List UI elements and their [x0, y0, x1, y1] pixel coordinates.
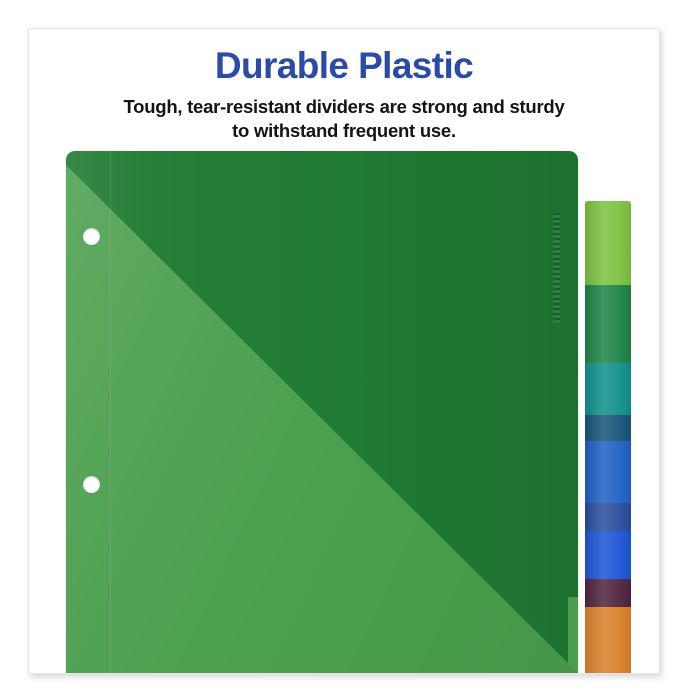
tab-purple [585, 579, 631, 607]
tab-orange [585, 607, 631, 673]
tab-blue [585, 441, 631, 503]
subtitle-line-2: to withstand frequent use. [54, 119, 634, 143]
product-photo [29, 151, 659, 673]
divider-bottom-notch [568, 597, 578, 673]
tab-bright-blue [585, 531, 631, 579]
product-marketing-image: Durable Plastic Tough, tear-resistant di… [0, 0, 700, 700]
divider-fold-crease [110, 151, 112, 673]
page-title: Durable Plastic [29, 47, 659, 86]
subtitle-line-1: Tough, tear-resistant dividers are stron… [54, 95, 634, 119]
tab-light-green [585, 201, 631, 285]
hole-punch-top [83, 228, 100, 245]
tab-dark-teal [585, 415, 631, 441]
tab-dark-green [585, 285, 631, 363]
subtitle: Tough, tear-resistant dividers are stron… [54, 95, 634, 144]
tab-teal [585, 363, 631, 415]
text-block: Durable Plastic Tough, tear-resistant di… [29, 47, 659, 144]
index-tab-stack [585, 151, 631, 673]
tab-navy [585, 503, 631, 531]
product-card: Durable Plastic Tough, tear-resistant di… [28, 28, 660, 674]
hole-punch-bottom [83, 476, 100, 493]
plastic-divider [66, 151, 578, 673]
divider-ridged-spine [553, 213, 560, 323]
